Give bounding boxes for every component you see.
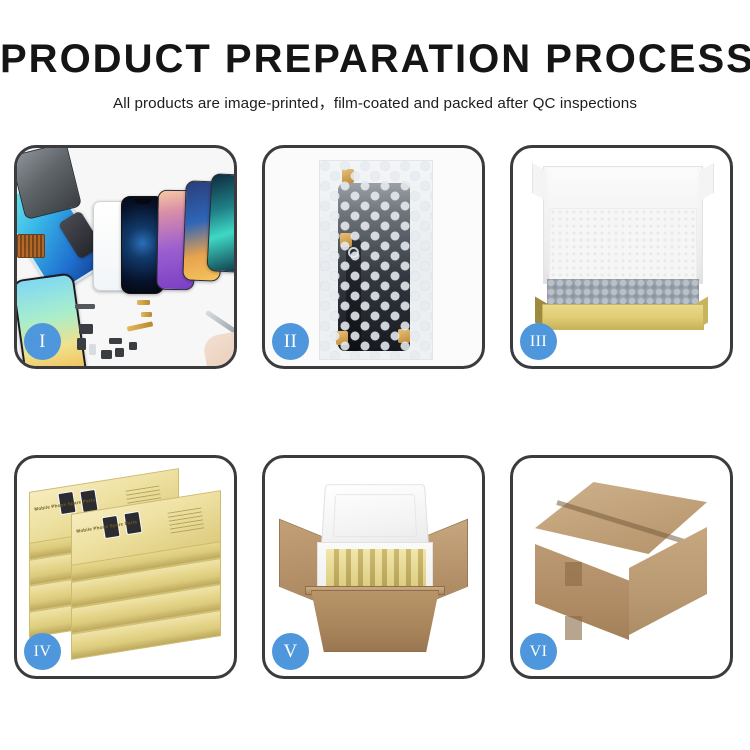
logic-board-chip-icon bbox=[17, 234, 45, 258]
step-panel-6[interactable]: VI bbox=[510, 455, 733, 679]
grey-bubble-wrap-icon bbox=[547, 279, 699, 307]
small-part-icon bbox=[109, 338, 122, 344]
step-badge-4: IV bbox=[24, 633, 61, 670]
styrofoam-lid-icon bbox=[321, 484, 429, 548]
step-badge-1: I bbox=[24, 323, 61, 360]
bubble-texture-icon bbox=[320, 161, 432, 359]
page-subtitle: All products are image-printed，film-coat… bbox=[0, 91, 750, 113]
small-part-icon bbox=[129, 342, 137, 350]
small-part-icon bbox=[77, 338, 86, 350]
yellow-boxes-inside-icon bbox=[326, 549, 426, 587]
notch-icon bbox=[134, 199, 151, 204]
small-part-icon bbox=[79, 324, 93, 334]
step-panel-1[interactable]: I bbox=[14, 145, 237, 369]
step-panel-2[interactable]: II bbox=[262, 145, 485, 369]
page-title: PRODUCT PREPARATION PROCESS bbox=[0, 38, 750, 80]
carton-tape-icon bbox=[565, 616, 582, 640]
small-part-icon bbox=[115, 348, 124, 357]
process-steps-grid: I II bbox=[14, 145, 736, 679]
hand-icon bbox=[202, 331, 234, 366]
tweezers-icon bbox=[205, 310, 234, 335]
product-preparation-process-page: PRODUCT PREPARATION PROCESS All products… bbox=[0, 0, 750, 750]
page-header: PRODUCT PREPARATION PROCESS All products… bbox=[0, 0, 750, 113]
box-stack-icon: Mobile Phone Spare Parts Mobile Phone Sp… bbox=[29, 480, 227, 662]
small-part-icon bbox=[75, 304, 95, 309]
teal-phone-icon bbox=[206, 173, 234, 273]
step-badge-6: VI bbox=[520, 633, 557, 670]
carton-body-icon bbox=[311, 590, 439, 652]
step-badge-3: III bbox=[520, 323, 557, 360]
step-panel-5[interactable]: V bbox=[262, 455, 485, 679]
step-badge-2: II bbox=[272, 323, 309, 360]
step-badge-5: V bbox=[272, 633, 309, 670]
small-part-icon bbox=[89, 344, 96, 355]
carton-left-face-icon bbox=[535, 544, 629, 640]
flex-cable-icon bbox=[127, 321, 153, 331]
white-foam-sheet-icon bbox=[549, 208, 697, 280]
step-panel-3[interactable]: III bbox=[510, 145, 733, 369]
bubble-wrap-bag-icon bbox=[319, 160, 433, 360]
yellow-box-front-icon bbox=[542, 304, 704, 330]
small-part-icon bbox=[137, 300, 150, 305]
step-panel-4[interactable]: Mobile Phone Spare Parts Mobile Phone Sp… bbox=[14, 455, 237, 679]
small-part-icon bbox=[101, 350, 112, 359]
small-part-icon bbox=[141, 312, 152, 317]
carton-tape-icon bbox=[565, 562, 582, 586]
